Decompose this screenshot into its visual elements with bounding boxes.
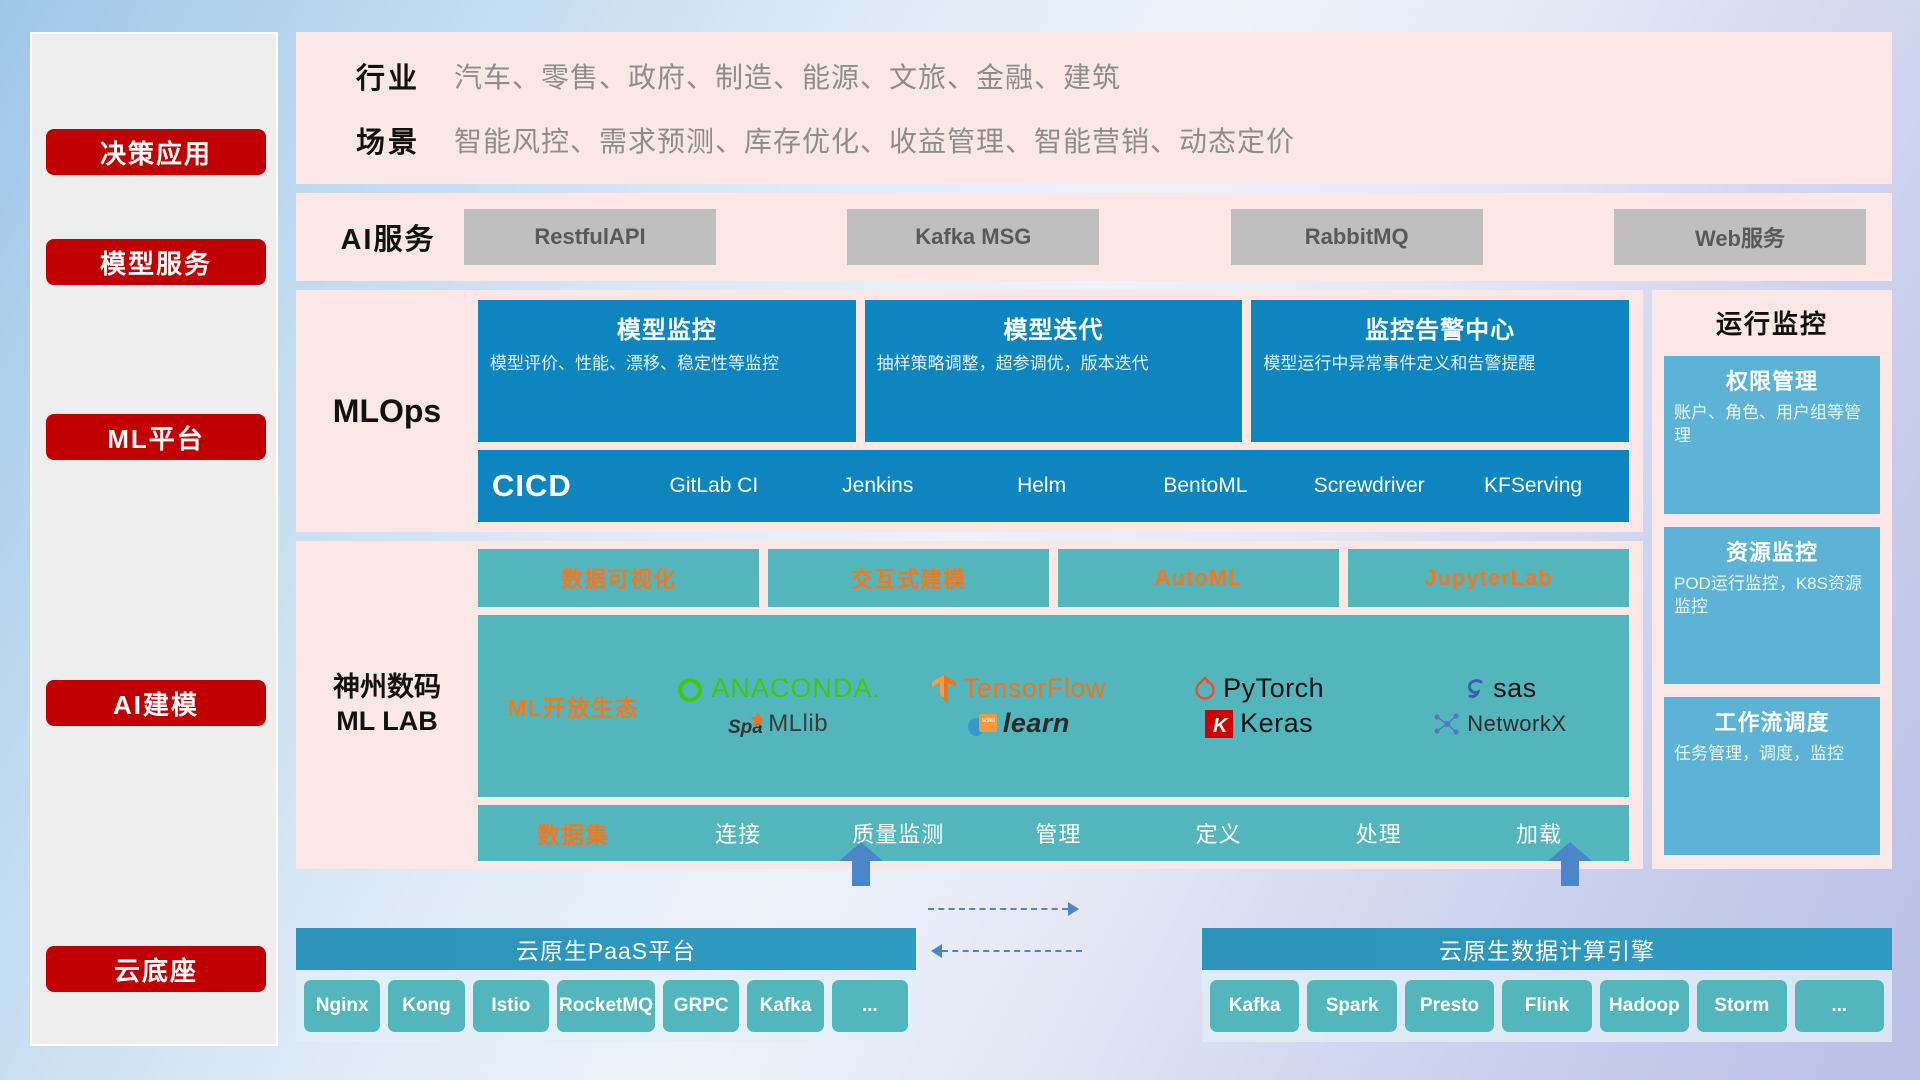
scenario-label: 场景 — [322, 119, 454, 161]
monitor-card-workflow-scheduling[interactable]: 工作流调度 任务管理，调度，监控 — [1664, 697, 1880, 855]
ml-ecosystem-label: ML开放生态 — [488, 689, 658, 723]
cicd-item-screwdriver[interactable]: Screwdriver — [1287, 475, 1451, 497]
card-desc: 任务管理，调度，监控 — [1674, 743, 1870, 766]
cicd-item-helm[interactable]: Helm — [960, 475, 1124, 497]
card-desc: 模型评价、性能、漂移、稳定性等监控 — [490, 353, 844, 376]
up-arrow-paas-icon — [839, 842, 883, 886]
pytorch-mark-icon — [1193, 675, 1217, 703]
service-chip-kafka-msg[interactable]: Kafka MSG — [847, 209, 1099, 265]
scikit-learn-mark-icon: scikit — [967, 710, 997, 738]
networkx-logo: NetworkX — [1431, 710, 1566, 738]
apache-spark-mark-icon: Spark — [728, 709, 762, 739]
engine-chip-kafka[interactable]: Kafka — [1210, 980, 1299, 1032]
base-connector-arrows — [928, 908, 1088, 968]
scikit-learn-logo: scikit learn — [967, 708, 1070, 739]
rail-tag-model-service[interactable]: 模型服务 — [46, 239, 266, 285]
ml-lab-section: 神州数码 ML LAB 数据可视化 交互式建模 AutoML JupyterLa… — [296, 541, 1643, 869]
mlops-card-model-monitoring[interactable]: 模型监控 模型评价、性能、漂移、稳定性等监控 — [478, 300, 856, 442]
pytorch-logo: PyTorch — [1193, 673, 1324, 704]
ml-lab-label-line1: 神州数码 — [296, 671, 478, 705]
card-desc: 模型运行中异常事件定义和告警提醒 — [1263, 353, 1617, 376]
ml-tools-row: 数据可视化 交互式建模 AutoML JupyterLab — [478, 549, 1629, 607]
pytorch-wordmark: PyTorch — [1223, 673, 1324, 704]
mlops-card-alert-center[interactable]: 监控告警中心 模型运行中异常事件定义和告警提醒 — [1251, 300, 1629, 442]
sas-mark-icon — [1461, 676, 1487, 702]
card-title: 监控告警中心 — [1263, 310, 1617, 345]
paas-chip-nginx[interactable]: Nginx — [304, 980, 380, 1032]
industry-label: 行业 — [322, 55, 454, 97]
tool-chip-jupyterlab[interactable]: JupyterLab — [1348, 549, 1629, 607]
industry-row: 行业 汽车、零售、政府、制造、能源、文旅、金融、建筑 — [322, 55, 1866, 97]
cicd-item-jenkins[interactable]: Jenkins — [796, 475, 960, 497]
ml-ecosystem-panel: ML开放生态 ANACONDA. — [478, 615, 1629, 797]
dash-line-to-left — [942, 950, 1082, 952]
paas-chip-grpc[interactable]: GRPC — [663, 980, 739, 1032]
service-chip-restfulapi[interactable]: RestfulAPI — [464, 209, 716, 265]
mlops-card-model-iteration[interactable]: 模型迭代 抽样策略调整，超参调优，版本迭代 — [865, 300, 1243, 442]
engine-chip-storm[interactable]: Storm — [1697, 980, 1786, 1032]
cicd-item-gitlab-ci[interactable]: GitLab CI — [632, 475, 796, 497]
card-title: 模型监控 — [490, 310, 844, 345]
dataset-row: 数据集 连接 质量监测 管理 定义 处理 加载 — [478, 805, 1629, 861]
runtime-monitor-panel: 运行监控 权限管理 账户、角色、用户组等管理 资源监控 POD运行监控，K8S资… — [1652, 290, 1892, 869]
paas-platform-header: 云原生PaaS平台 — [296, 928, 916, 970]
anaconda-mark-icon — [675, 674, 705, 704]
engine-chip-hadoop[interactable]: Hadoop — [1600, 980, 1689, 1032]
tool-chip-interactive-modeling[interactable]: 交互式建模 — [768, 549, 1049, 607]
cicd-item-bentoml[interactable]: BentoML — [1123, 475, 1287, 497]
engine-chip-flink[interactable]: Flink — [1502, 980, 1591, 1032]
svg-text:scikit: scikit — [982, 718, 996, 724]
data-engine-header: 云原生数据计算引擎 — [1202, 928, 1892, 970]
cloud-base-band: 云原生PaaS平台 Nginx Kong Istio RocketMQ GRPC… — [296, 878, 1892, 1046]
card-desc: POD运行监控，K8S资源监控 — [1674, 573, 1870, 619]
networkx-wordmark: NetworkX — [1467, 711, 1566, 737]
rail-tag-ai-modeling[interactable]: AI建模 — [46, 680, 266, 726]
svg-text:K: K — [1213, 715, 1229, 737]
card-desc: 抽样策略调整，超参调优，版本迭代 — [877, 353, 1231, 376]
decision-apps-band: 行业 汽车、零售、政府、制造、能源、文旅、金融、建筑 场景 智能风控、需求预测、… — [296, 32, 1892, 184]
paas-chip-istio[interactable]: Istio — [473, 980, 549, 1032]
service-chip-rabbitmq[interactable]: RabbitMQ — [1231, 209, 1483, 265]
dataset-label: 数据集 — [488, 816, 658, 850]
cicd-item-kfserving[interactable]: KFServing — [1451, 475, 1615, 497]
paas-chip-kong[interactable]: Kong — [388, 980, 464, 1032]
dataset-item-manage[interactable]: 管理 — [978, 817, 1138, 849]
scenario-row: 场景 智能风控、需求预测、库存优化、收益管理、智能营销、动态定价 — [322, 119, 1866, 161]
dash-line-to-right — [928, 908, 1068, 910]
monitor-card-resource-monitoring[interactable]: 资源监控 POD运行监控，K8S资源监控 — [1664, 527, 1880, 685]
scenario-values: 智能风控、需求预测、库存优化、收益管理、智能营销、动态定价 — [454, 120, 1295, 160]
mllib-wordmark: MLlib — [768, 710, 828, 738]
rail-tag-cloud-base[interactable]: 云底座 — [46, 946, 266, 992]
monitor-card-permission-management[interactable]: 权限管理 账户、角色、用户组等管理 — [1664, 356, 1880, 514]
card-title: 资源监控 — [1674, 535, 1870, 567]
card-desc: 账户、角色、用户组等管理 — [1674, 402, 1870, 448]
dataset-item-define[interactable]: 定义 — [1139, 817, 1299, 849]
tensorflow-wordmark: TensorFlow — [963, 673, 1106, 704]
mlops-label: MLOps — [296, 393, 478, 430]
scikit-learn-wordmark: learn — [1003, 708, 1070, 739]
tool-chip-automl[interactable]: AutoML — [1058, 549, 1339, 607]
architecture-diagram: 决策应用 模型服务 ML平台 AI建模 云底座 行业 汽车、零售、政府、制造、能… — [30, 32, 1892, 1046]
networkx-mark-icon — [1431, 710, 1461, 738]
card-title: 工作流调度 — [1674, 705, 1870, 737]
paas-platform-block: 云原生PaaS平台 Nginx Kong Istio RocketMQ GRPC… — [296, 928, 916, 1042]
dash-arrowhead-right-icon — [1068, 902, 1079, 916]
up-arrow-data-engine-icon — [1548, 842, 1592, 886]
engine-chip-spark[interactable]: Spark — [1307, 980, 1396, 1032]
dataset-item-connect[interactable]: 连接 — [658, 817, 818, 849]
anaconda-logo: ANACONDA. — [675, 673, 881, 704]
ai-service-label: AI服务 — [322, 216, 454, 258]
cicd-label: CICD — [492, 468, 632, 504]
tool-chip-data-visualization[interactable]: 数据可视化 — [478, 549, 759, 607]
paas-chip-rocketmq[interactable]: RocketMQ — [557, 980, 655, 1032]
keras-mark-icon: K — [1204, 709, 1234, 739]
rail-tag-ml-platform[interactable]: ML平台 — [46, 414, 266, 460]
data-engine-block: 云原生数据计算引擎 Kafka Spark Presto Flink Hadoo… — [1202, 928, 1892, 1042]
card-title: 模型迭代 — [877, 310, 1231, 345]
tensorflow-logo: TensorFlow — [931, 673, 1106, 704]
keras-logo: K Keras — [1204, 708, 1313, 739]
keras-wordmark: Keras — [1240, 708, 1313, 739]
anaconda-wordmark: ANACONDA. — [711, 673, 881, 704]
mlops-section: MLOps 模型监控 模型评价、性能、漂移、稳定性等监控 模型迭代 抽样策略调整… — [296, 290, 1643, 532]
service-chip-web-service[interactable]: Web服务 — [1614, 209, 1866, 265]
spark-mllib-logo: Spark MLlib — [728, 709, 828, 739]
tensorflow-mark-icon — [931, 674, 957, 704]
industry-values: 汽车、零售、政府、制造、能源、文旅、金融、建筑 — [454, 56, 1121, 96]
layer-rail: 决策应用 模型服务 ML平台 AI建模 云底座 — [30, 32, 278, 1046]
rail-tag-decision-apps[interactable]: 决策应用 — [46, 129, 266, 175]
paas-chip-kafka[interactable]: Kafka — [747, 980, 823, 1032]
paas-chip-more[interactable]: ... — [832, 980, 908, 1032]
platform-core-band: MLOps 模型监控 模型评价、性能、漂移、稳定性等监控 模型迭代 抽样策略调整… — [296, 290, 1892, 869]
sas-logo: sas — [1461, 673, 1537, 704]
runtime-monitor-title: 运行监控 — [1664, 304, 1880, 341]
dash-arrowhead-left-icon — [931, 944, 942, 958]
engine-chip-more[interactable]: ... — [1795, 980, 1884, 1032]
ai-service-band: AI服务 RestfulAPI Kafka MSG RabbitMQ Web服务 — [296, 193, 1892, 281]
dataset-item-process[interactable]: 处理 — [1299, 817, 1459, 849]
card-title: 权限管理 — [1674, 364, 1870, 396]
dataset-item-load[interactable]: 加载 — [1459, 817, 1619, 849]
engine-chip-presto[interactable]: Presto — [1405, 980, 1494, 1032]
ml-lab-label: 神州数码 ML LAB — [296, 671, 478, 739]
ml-lab-label-line2: ML LAB — [296, 705, 478, 739]
cicd-strip: CICD GitLab CI Jenkins Helm BentoML Scre… — [478, 450, 1629, 522]
diagram-body: 行业 汽车、零售、政府、制造、能源、文旅、金融、建筑 场景 智能风控、需求预测、… — [296, 32, 1892, 1046]
sas-wordmark: sas — [1493, 673, 1537, 704]
